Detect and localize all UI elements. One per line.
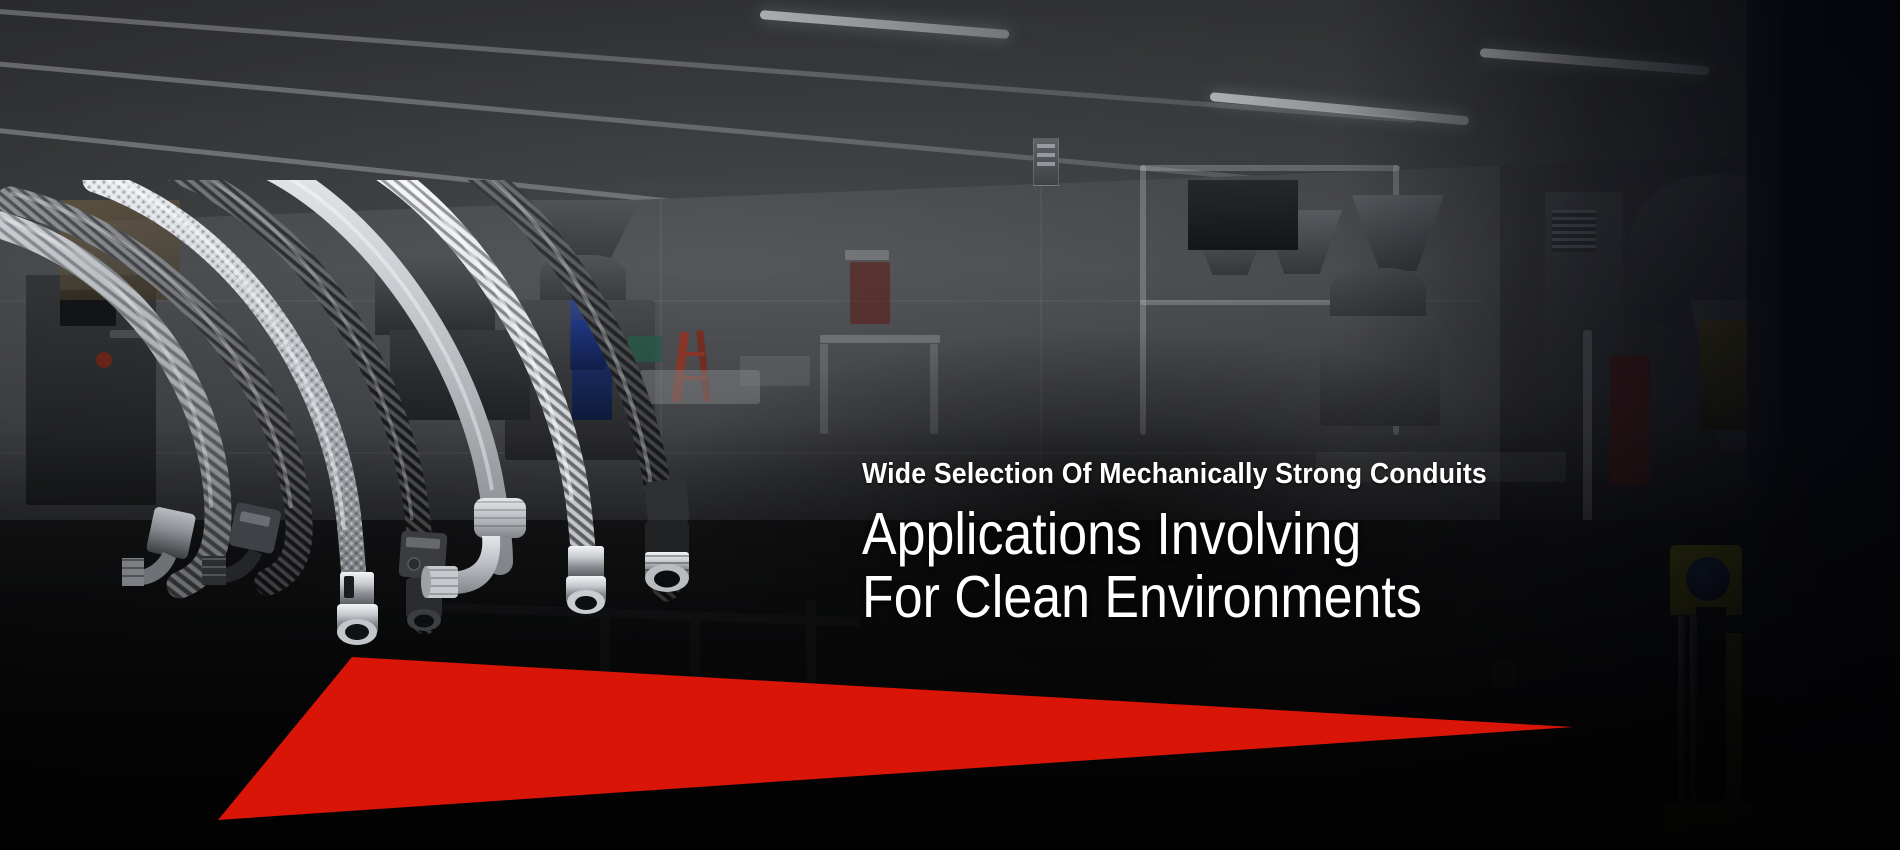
conduit-bore (654, 571, 680, 588)
conduit-fitting-black (228, 502, 282, 555)
threaded-end (122, 558, 144, 586)
conduit-gray-pvc (0, 213, 218, 586)
hero-headline: Applications Involving For Clean Environ… (862, 503, 1724, 629)
hero-headline-line1: Applications Involving (862, 501, 1361, 567)
conduit-group (0, 180, 760, 740)
hero-banner: Wide Selection Of Mechanically Strong Co… (0, 0, 1900, 850)
hero-kicker: Wide Selection Of Mechanically Strong Co… (862, 460, 1764, 489)
conduit-bore (345, 624, 369, 640)
conduit-boot (644, 478, 690, 526)
conduit-bore (575, 596, 597, 610)
threaded-end (202, 556, 226, 585)
conduit-fitting-gray (146, 506, 197, 560)
hero-copy: Wide Selection Of Mechanically Strong Co… (862, 460, 1842, 629)
conduit-fitting-chrome (568, 546, 604, 578)
elbow-bend (452, 536, 500, 594)
hero-headline-line2: For Clean Environments (862, 566, 1724, 629)
conduit-bore (414, 615, 434, 628)
